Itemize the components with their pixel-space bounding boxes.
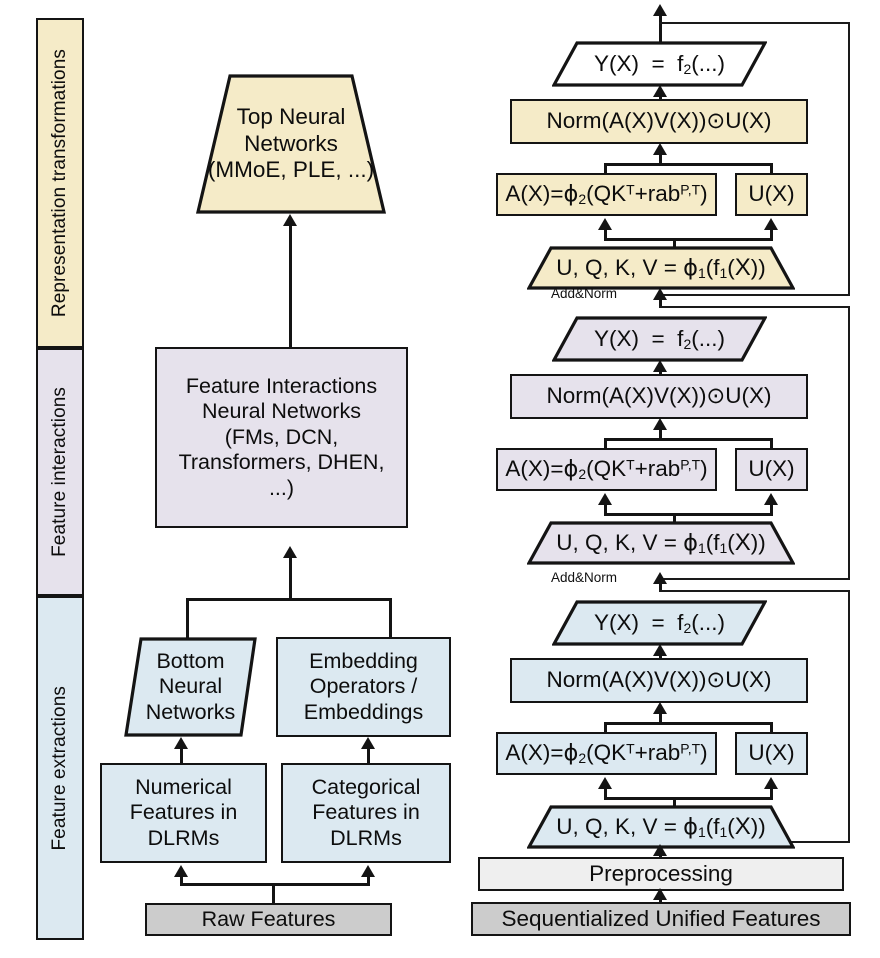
rail-label-feature-interactions: Feature interactions (49, 387, 71, 557)
connector-b3-bus-right (770, 722, 773, 732)
connector-b3-fan-right-up (770, 788, 773, 799)
connector-b1-bus-right (770, 163, 773, 173)
fi-line-1: Feature Interactions (186, 374, 377, 399)
arrow-b3-fan-to-attention (598, 777, 612, 789)
arrow-b2-fan-to-attention (598, 493, 612, 505)
block1-gate-node: U(X) (735, 173, 808, 216)
bnn-line-2: Neural (130, 674, 251, 699)
block1-attention-label: A(X)=ϕ2(QKT+rabP,T) (505, 181, 707, 208)
block1-gate-label: U(X) (748, 181, 794, 208)
block3-norm-label: Norm(A(X)V(X))⊙U(X) (546, 667, 771, 694)
arrow-b1-fan-to-attention (598, 218, 612, 230)
bnn-line-1: Bottom (130, 649, 251, 674)
bottom-neural-networks-label: Bottom Neural Networks (124, 649, 257, 725)
embedding-operators-node: Embedding Operators / Embeddings (276, 637, 451, 737)
connector-b2-fan-h (604, 513, 773, 516)
categorical-features-node: Categorical Features in DLRMs (281, 763, 451, 863)
connector-b3-fan-left-up (604, 788, 607, 799)
arrow-raw-to-categorical (361, 865, 375, 877)
block2-gate-label: U(X) (748, 456, 794, 483)
top-neural-networks-label: Top Neural Networks (MMoE, PLE, ...) (196, 104, 386, 184)
connector-b3-fan-h (604, 797, 773, 800)
fi-line-5: ...) (269, 476, 294, 501)
raw-features-label: Raw Features (202, 907, 336, 932)
block3-norm-node: Norm(A(X)V(X))⊙U(X) (510, 658, 808, 703)
feature-interactions-neural-networks-node: Feature Interactions Neural Networks (FM… (155, 347, 408, 528)
numerical-features-node: Numerical Features in DLRMs (100, 763, 267, 863)
arrow-b2-norm-to-out (653, 360, 667, 372)
connector-b1-bus-left (604, 163, 607, 173)
tnn-line-2: Networks (202, 131, 380, 158)
connector-b2-bus-left (604, 438, 607, 448)
rail-feature-interactions: Feature interactions (36, 348, 84, 596)
block1-input-node: U, Q, K, V = ϕ1(f1(X)) (527, 246, 795, 290)
connector-raw-bus-right-up (367, 876, 370, 885)
connector-b2-fan-left-up (604, 504, 607, 515)
arrow-stack-output (653, 4, 667, 16)
raw-features-node: Raw Features (145, 903, 392, 936)
residual-1-right (848, 22, 850, 296)
arrow-b2-bus-to-norm (653, 418, 667, 430)
rail-label-feature-extractions: Feature extractions (49, 686, 71, 851)
arrow-b3-fan-to-gate (764, 777, 778, 789)
block2-norm-label: Norm(A(X)V(X))⊙U(X) (546, 383, 771, 410)
connector-b2-bus-right (770, 438, 773, 448)
emb-line-2: Operators / (310, 674, 418, 699)
block2-norm-node: Norm(A(X)V(X))⊙U(X) (510, 374, 808, 419)
arrow-bus-to-fi (283, 546, 297, 558)
residual-2-top (659, 306, 850, 308)
num-line-3: DLRMs (148, 826, 220, 851)
connector-b1-bus-h (604, 163, 773, 166)
block1-addnorm-label: Add&Norm (551, 286, 617, 301)
connector-bus-to-fi (289, 556, 292, 601)
preprocessing-node: Preprocessing (478, 857, 844, 891)
diagram-canvas: Representation transformations Feature i… (0, 0, 880, 958)
connector-b2-fan-right-up (770, 504, 773, 515)
connector-bus-right-down (389, 598, 392, 639)
block3-gate-node: U(X) (735, 732, 808, 775)
block2-input-label: U, Q, K, V = ϕ1(f1(X)) (527, 529, 795, 557)
fi-line-3: (FMs, DCN, (225, 425, 338, 450)
connector-b3-bus-left (604, 722, 607, 732)
block3-output-node: Y(X) = f2(...) (552, 600, 767, 646)
block1-norm-label: Norm(A(X)V(X))⊙U(X) (546, 108, 771, 135)
cat-line-2: Features in (312, 800, 420, 825)
fi-line-2: Neural Networks (202, 399, 361, 424)
connector-bus-left-down (186, 598, 189, 639)
connector-b3-bus-h (604, 722, 773, 725)
rail-label-representation-transformations: Representation transformations (49, 49, 71, 317)
cat-line-1: Categorical (312, 775, 421, 800)
connector-raw-to-bus (272, 883, 275, 903)
connector-bus-horizontal (186, 598, 392, 601)
arrow-b2-in (653, 572, 667, 584)
arrow-b1-bus-to-norm (653, 143, 667, 155)
connector-stack-output (659, 15, 662, 42)
connector-b1-fan-left-up (604, 229, 607, 240)
residual-1-bottom (661, 294, 850, 296)
arrow-b2-fan-to-gate (764, 493, 778, 505)
residual-1-top (659, 22, 850, 24)
tnn-line-3: (MMoE, PLE, ...) (202, 157, 380, 184)
residual-3-top (659, 590, 850, 592)
arrow-fi-to-tnn (283, 214, 297, 226)
connector-b2-bus-h (604, 438, 773, 441)
arrow-numerical-to-bnn (174, 737, 188, 749)
emb-line-3: Embeddings (304, 700, 424, 725)
residual-2-right (848, 306, 850, 580)
block1-attention-node: A(X)=ϕ2(QKT+rabP,T) (496, 173, 717, 216)
residual-2-bottom (661, 578, 850, 580)
block3-attention-node: A(X)=ϕ2(QKT+rabP,T) (496, 732, 717, 775)
bottom-neural-networks-node: Bottom Neural Networks (124, 637, 257, 737)
cat-line-3: DLRMs (330, 826, 402, 851)
block3-input-label: U, Q, K, V = ϕ1(f1(X)) (527, 813, 795, 841)
block2-gate-node: U(X) (735, 448, 808, 491)
emb-line-1: Embedding (309, 649, 418, 674)
connector-raw-bus-horizontal (180, 883, 370, 886)
arrow-seq-to-preproc (653, 888, 667, 900)
sequentialized-unified-features-node: Sequentialized Unified Features (471, 902, 851, 936)
block2-addnorm-label: Add&Norm (551, 570, 617, 585)
connector-b1-fan-right-up (770, 229, 773, 240)
arrow-b3-bus-to-norm (653, 702, 667, 714)
arrow-categorical-to-emb (361, 737, 375, 749)
preprocessing-label: Preprocessing (589, 861, 733, 888)
sequentialized-unified-features-label: Sequentialized Unified Features (502, 906, 821, 933)
bnn-line-3: Networks (130, 700, 251, 725)
block1-input-label: U, Q, K, V = ϕ1(f1(X)) (527, 254, 795, 282)
block2-output-node: Y(X) = f2(...) (552, 316, 767, 362)
connector-b1-fan-h (604, 238, 773, 241)
arrow-b1-norm-to-out (653, 85, 667, 97)
block2-input-node: U, Q, K, V = ϕ1(f1(X)) (527, 521, 795, 565)
block1-output-label: Y(X) = f2(...) (552, 51, 767, 78)
block1-output-node: Y(X) = f2(...) (552, 41, 767, 87)
arrow-b3-in (653, 844, 667, 856)
arrow-b1-in (653, 288, 667, 300)
connector-fi-to-tnn (289, 224, 292, 349)
arrow-b3-norm-to-out (653, 644, 667, 656)
arrow-raw-to-numerical (174, 865, 188, 877)
arrow-b1-fan-to-gate (764, 218, 778, 230)
block3-gate-label: U(X) (748, 740, 794, 767)
rail-representation-transformations: Representation transformations (36, 18, 84, 348)
top-neural-networks-node: Top Neural Networks (MMoE, PLE, ...) (196, 74, 386, 214)
num-line-2: Features in (130, 800, 238, 825)
block3-input-node: U, Q, K, V = ϕ1(f1(X)) (527, 805, 795, 849)
tnn-line-1: Top Neural (202, 104, 380, 131)
residual-3-right (848, 590, 850, 843)
block3-attention-label: A(X)=ϕ2(QKT+rabP,T) (505, 740, 707, 767)
block2-output-label: Y(X) = f2(...) (552, 326, 767, 353)
rail-feature-extractions: Feature extractions (36, 596, 84, 940)
connector-raw-bus-left-up (180, 876, 183, 885)
block2-attention-label: A(X)=ϕ2(QKT+rabP,T) (505, 456, 707, 483)
block2-attention-node: A(X)=ϕ2(QKT+rabP,T) (496, 448, 717, 491)
block3-output-label: Y(X) = f2(...) (552, 610, 767, 637)
num-line-1: Numerical (135, 775, 232, 800)
fi-line-4: Transformers, DHEN, (179, 450, 385, 475)
block1-norm-node: Norm(A(X)V(X))⊙U(X) (510, 99, 808, 144)
